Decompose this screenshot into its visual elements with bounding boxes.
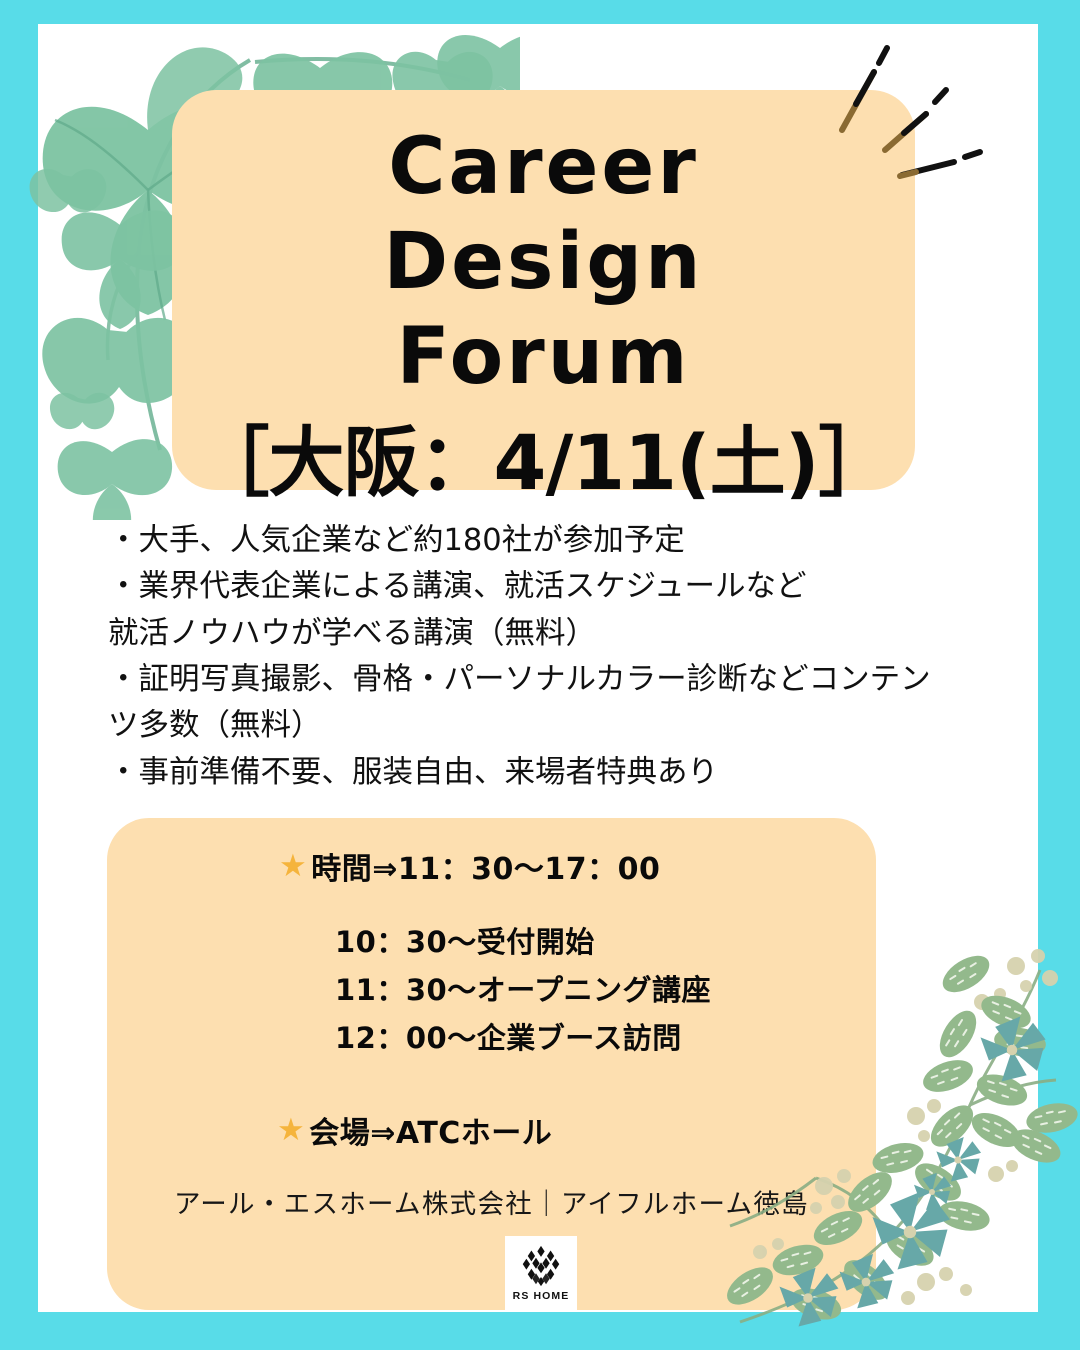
rs-home-logo: RS HOME <box>505 1236 577 1310</box>
bullet-line: ・大手、人気企業など約180社が参加予定 <box>108 518 988 564</box>
star-icon: ★ <box>277 1115 305 1146</box>
bullet-line: ツ多数（無料） <box>108 703 988 749</box>
time-heading-label: 時間⇒11：30～17：00 <box>311 844 660 888</box>
info-panel: ★ 時間⇒11：30～17：00 10：30～受付開始 11：30～オープニング… <box>107 818 876 1310</box>
company-credit: アール・エスホーム株式会社｜アイフルホーム徳島 <box>107 1182 876 1221</box>
info-panel-content: ★ 時間⇒11：30～17：00 10：30～受付開始 11：30～オープニング… <box>107 818 876 1310</box>
poster-root: Career Design Forum ［大阪：4/11(土)］ ・大手、人気企… <box>0 0 1080 1350</box>
title-english-line2: Forum <box>224 310 864 405</box>
bullet-line: 就活ノウハウが学べる講演（無料） <box>108 611 988 657</box>
schedule-row: 10：30～受付開始 <box>335 918 711 966</box>
bullet-line: ・事前準備不要、服装自由、来場者特典あり <box>108 750 988 796</box>
bullet-list: ・大手、人気企業など約180社が参加予定 ・業界代表企業による講演、就活スケジュ… <box>108 518 988 796</box>
venue-heading-label: 会場⇒ATCホール <box>309 1108 552 1152</box>
logo-wordmark: RS HOME <box>513 1290 570 1302</box>
schedule-list: 10：30～受付開始 11：30～オープニング講座 12：00～企業ブース訪問 <box>335 918 711 1062</box>
time-heading: ★ 時間⇒11：30～17：00 <box>279 844 660 888</box>
star-icon: ★ <box>279 851 307 882</box>
hexagon-logo-icon <box>518 1245 564 1287</box>
title-japanese: ［大阪：4/11(土)］ <box>194 421 894 505</box>
bullet-line: ・証明写真撮影、骨格・パーソナルカラー診断などコンテン <box>108 657 988 703</box>
venue-heading: ★ 会場⇒ATCホール <box>277 1108 552 1152</box>
bullet-line: ・業界代表企業による講演、就活スケジュールなど <box>108 564 988 610</box>
schedule-row: 12：00～企業ブース訪問 <box>335 1014 711 1062</box>
title-panel: Career Design Forum ［大阪：4/11(土)］ <box>172 90 915 490</box>
title-english-line1: Career Design <box>224 120 864 310</box>
title-english: Career Design Forum <box>224 120 864 405</box>
schedule-row: 11：30～オープニング講座 <box>335 966 711 1014</box>
